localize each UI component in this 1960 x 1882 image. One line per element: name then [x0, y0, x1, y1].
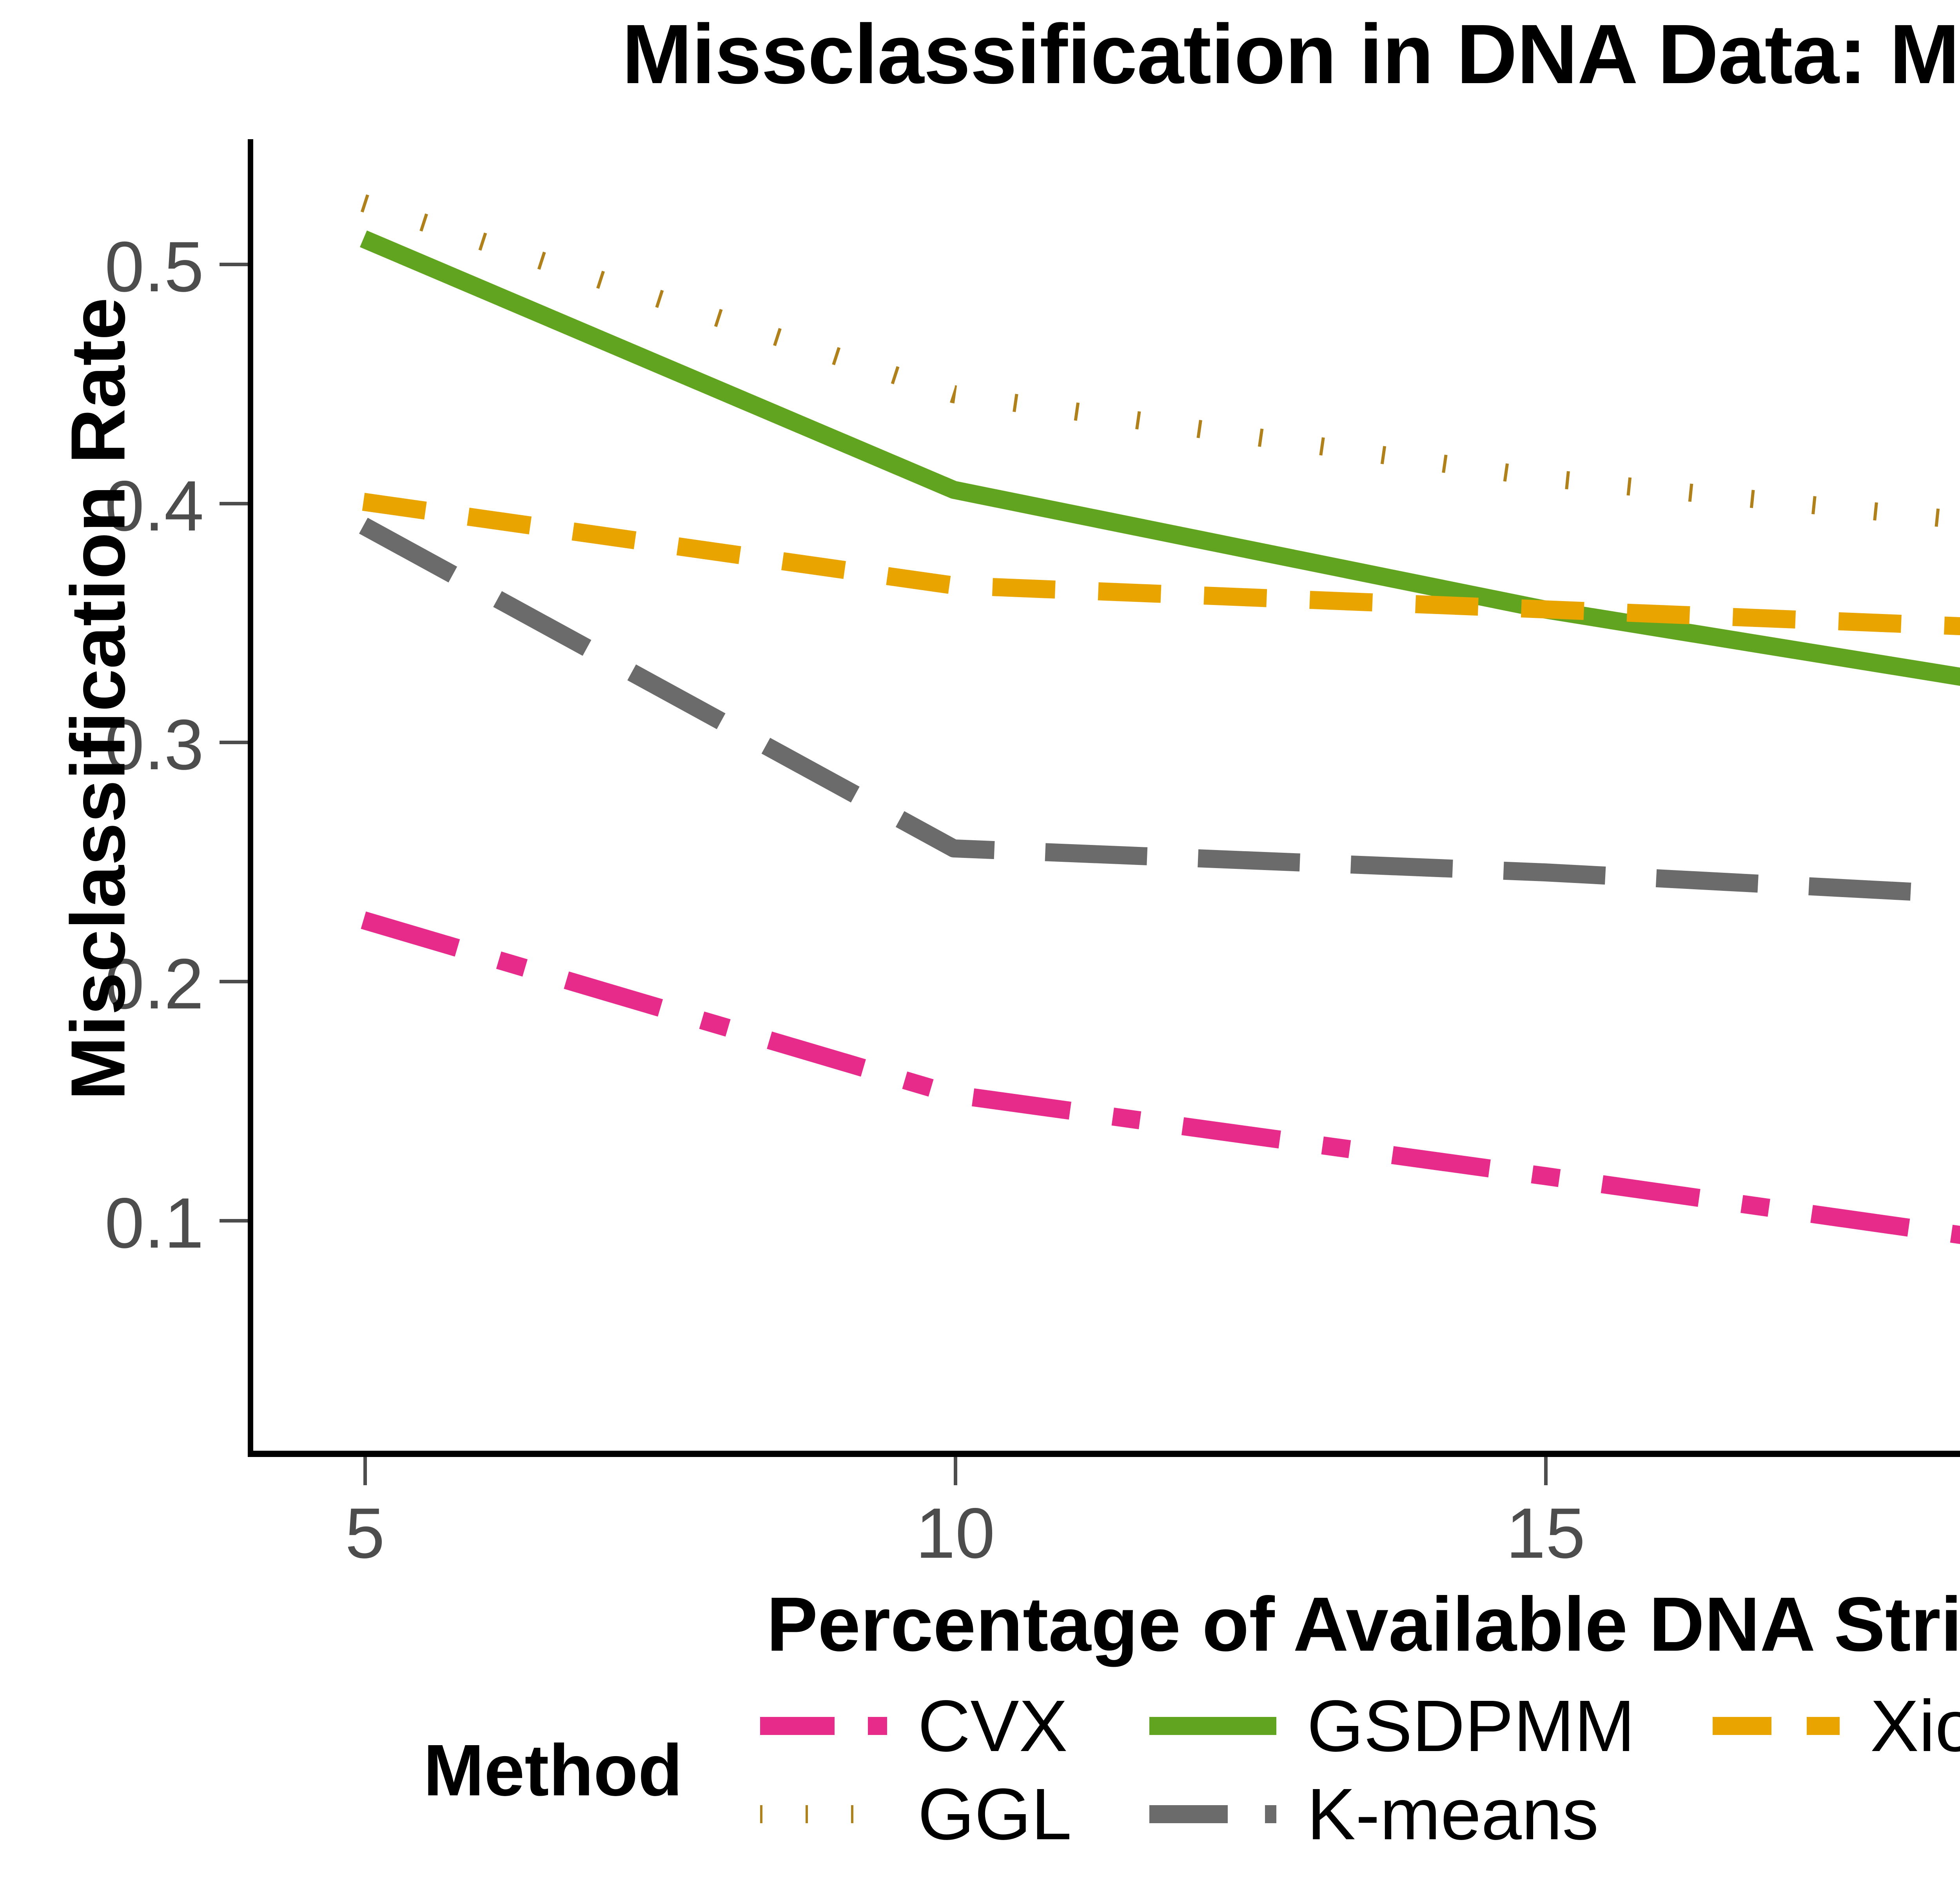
legend-key-gsdpmm-icon: [1146, 1686, 1279, 1766]
x-tick-mark-1: [954, 1457, 957, 1485]
legend-grid: CVXGSDPMMXiongGGLK-means: [757, 1682, 1960, 1858]
legend-label-ggl: GGL: [918, 1773, 1072, 1856]
legend-item-xiong[interactable]: Xiong: [1710, 1684, 1960, 1768]
legend-item-k-means[interactable]: K-means: [1146, 1773, 1635, 1856]
plot-panel: [248, 141, 1960, 1455]
legend-title: Method: [423, 1729, 682, 1812]
legend: Method CVXGSDPMMXiongGGLK-means: [423, 1682, 1960, 1858]
x-tick-mark-2: [1544, 1457, 1548, 1485]
y-tick-mark-4: [220, 1219, 248, 1223]
legend-label-xiong: Xiong: [1870, 1684, 1960, 1768]
x-axis-line: [248, 1451, 1960, 1457]
page-title: Missclassification in DNA Data: Model 1: [0, 10, 1960, 98]
x-axis-title: Percentage of Available DNA String: [0, 1580, 1960, 1668]
x-tick-label-0: 5: [189, 1492, 541, 1574]
legend-key-cvx-icon: [757, 1686, 890, 1766]
y-axis-line: [248, 139, 253, 1457]
legend-label-gsdpmm: GSDPMM: [1307, 1684, 1635, 1768]
y-tick-mark-2: [220, 741, 248, 744]
x-tick-label-2: 15: [1369, 1492, 1722, 1574]
legend-item-gsdpmm[interactable]: GSDPMM: [1146, 1684, 1635, 1768]
legend-key-k-means-icon: [1146, 1774, 1279, 1855]
legend-key-ggl-icon: [757, 1774, 890, 1855]
y-tick-mark-3: [220, 980, 248, 983]
legend-item-ggl[interactable]: GGL: [757, 1773, 1072, 1856]
x-tick-label-1: 10: [779, 1492, 1132, 1574]
chart-root: Missclassification in DNA Data: Model 1 …: [0, 0, 1960, 1882]
legend-label-cvx: CVX: [918, 1684, 1067, 1768]
x-tick-mark-0: [363, 1457, 367, 1485]
legend-label-k-means: K-means: [1307, 1773, 1599, 1856]
y-tick-mark-0: [220, 263, 248, 266]
legend-item-cvx[interactable]: CVX: [757, 1684, 1072, 1768]
y-tick-mark-1: [220, 502, 248, 505]
legend-key-xiong-icon: [1710, 1686, 1843, 1766]
y-axis-title: Misclassification Rate: [54, 72, 142, 1326]
